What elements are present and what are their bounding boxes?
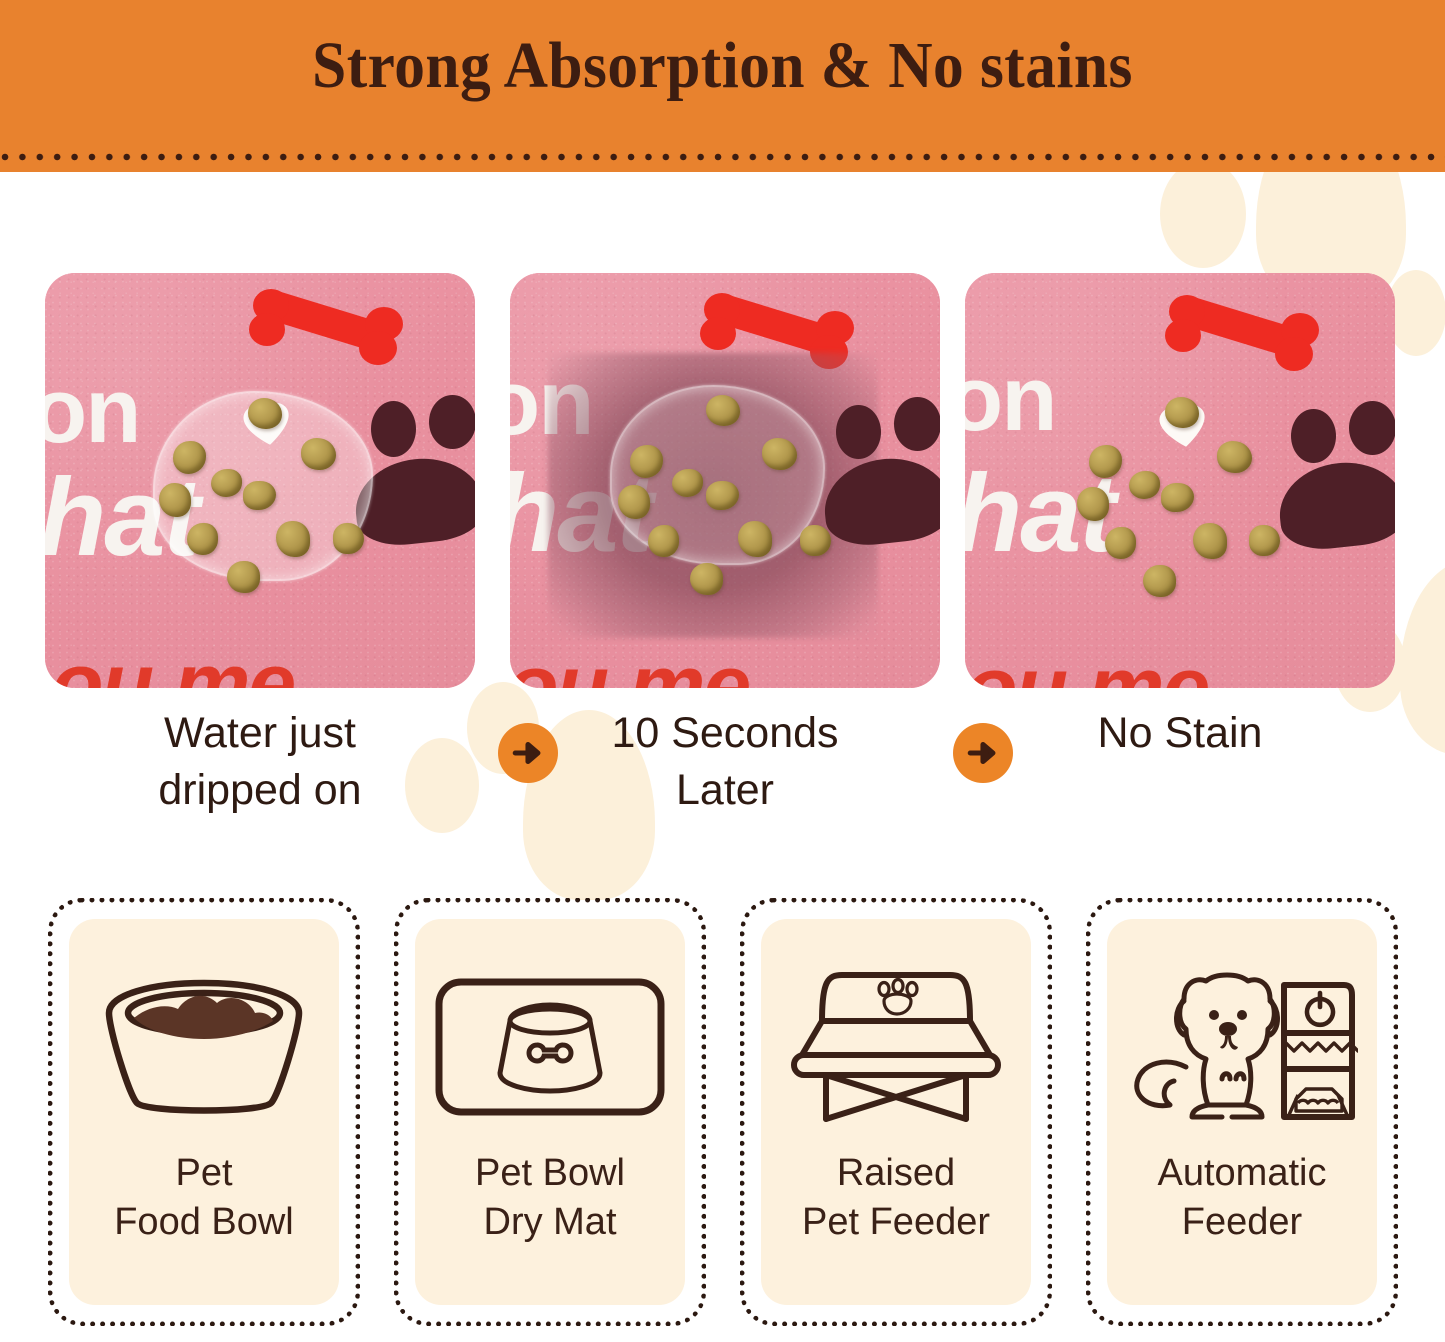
kibble-piece [738,521,772,557]
kibble-piece [1105,527,1136,559]
caption-line: Water just [45,705,475,762]
kibble-piece [1077,487,1109,521]
header-banner: Strong Absorption & No stains [0,0,1445,172]
kibble-piece [1217,441,1252,473]
usage-card-label: Raised Pet Feeder [796,1149,996,1248]
usage-cards-row: Pet Food Bowl Pet Bowl Dry Mat [48,898,1403,1328]
kibble-piece [1193,523,1227,559]
usage-card-pet-bowl-dry-mat[interactable]: Pet Bowl Dry Mat [394,898,706,1326]
usage-card-label: Pet Food Bowl [108,1149,300,1248]
caption-line: dripped on [45,762,475,819]
kibble-piece [672,469,703,497]
automatic-feeder-icon [1126,963,1358,1131]
kibble-piece [648,525,679,557]
usage-card-label: Pet Bowl Dry Mat [469,1149,631,1248]
usage-card-raised-pet-feeder[interactable]: Raised Pet Feeder [740,898,1052,1326]
mat-text-red-script: ou me [510,643,749,688]
mat-text-red-script: ou me [965,645,1208,688]
raised-pet-feeder-icon [784,963,1008,1131]
demo-photo-water-dripped: on hat ou me [45,273,475,688]
usage-card-automatic-feeder[interactable]: Automatic Feeder [1086,898,1398,1326]
kibble-piece [333,523,364,554]
pet-food-bowl-icon [95,963,313,1131]
kibble-piece [159,483,191,517]
kibble-piece [1143,565,1176,597]
usage-card-panel: Automatic Feeder [1107,919,1377,1305]
kibble-piece [187,523,218,555]
label-line: Food Bowl [114,1198,294,1247]
kibble-piece [227,561,260,593]
kibble-piece [248,398,282,429]
mat-bone-graphic [241,279,411,361]
usage-card-panel: Pet Bowl Dry Mat [415,919,685,1305]
kibble-piece [618,485,650,519]
kibble-piece [276,521,310,557]
caption-line: Later [510,762,940,819]
kibble-piece [762,438,797,470]
label-line: Raised [802,1149,990,1198]
usage-card-panel: Pet Food Bowl [69,919,339,1305]
mat-text-on: on [965,353,1055,445]
label-line: Pet [114,1149,294,1198]
label-line: Pet Feeder [802,1198,990,1247]
kibble-piece [800,525,831,556]
kibble-piece [1165,397,1199,428]
kibble-piece [1249,525,1280,556]
pet-bowl-dry-mat-icon [434,963,666,1131]
mat-text-on: on [45,365,139,457]
caption-line: 10 Seconds [510,705,940,762]
caption-ten-seconds-later: 10 Seconds Later [510,705,940,819]
usage-card-pet-food-bowl[interactable]: Pet Food Bowl [48,898,360,1326]
demo-photo-ten-seconds-later: on hat ou me [510,273,940,688]
label-line: Dry Mat [475,1198,625,1247]
absorption-demo-row: on hat ou me on hat ou [45,273,1405,688]
usage-card-label: Automatic Feeder [1152,1149,1333,1248]
usage-card-panel: Raised Pet Feeder [761,919,1031,1305]
mat-bone-graphic [1157,285,1327,367]
caption-no-stain: No Stain [965,705,1395,762]
kibble-piece [211,469,242,497]
header-dotted-divider [0,151,1445,163]
label-line: Feeder [1158,1198,1327,1247]
label-line: Automatic [1158,1149,1327,1198]
demo-photo-no-stain: on hat ou me [965,273,1395,688]
caption-water-dripped: Water just dripped on [45,705,475,819]
kibble-piece [706,395,740,426]
kibble-piece [301,438,336,470]
label-line: Pet Bowl [475,1149,625,1198]
caption-line: No Stain [965,705,1395,762]
kibble-piece [1129,471,1160,499]
page-title: Strong Absorption & No stains [51,28,1395,104]
kibble-piece [690,563,723,595]
mat-text-red-script: ou me [51,641,294,688]
